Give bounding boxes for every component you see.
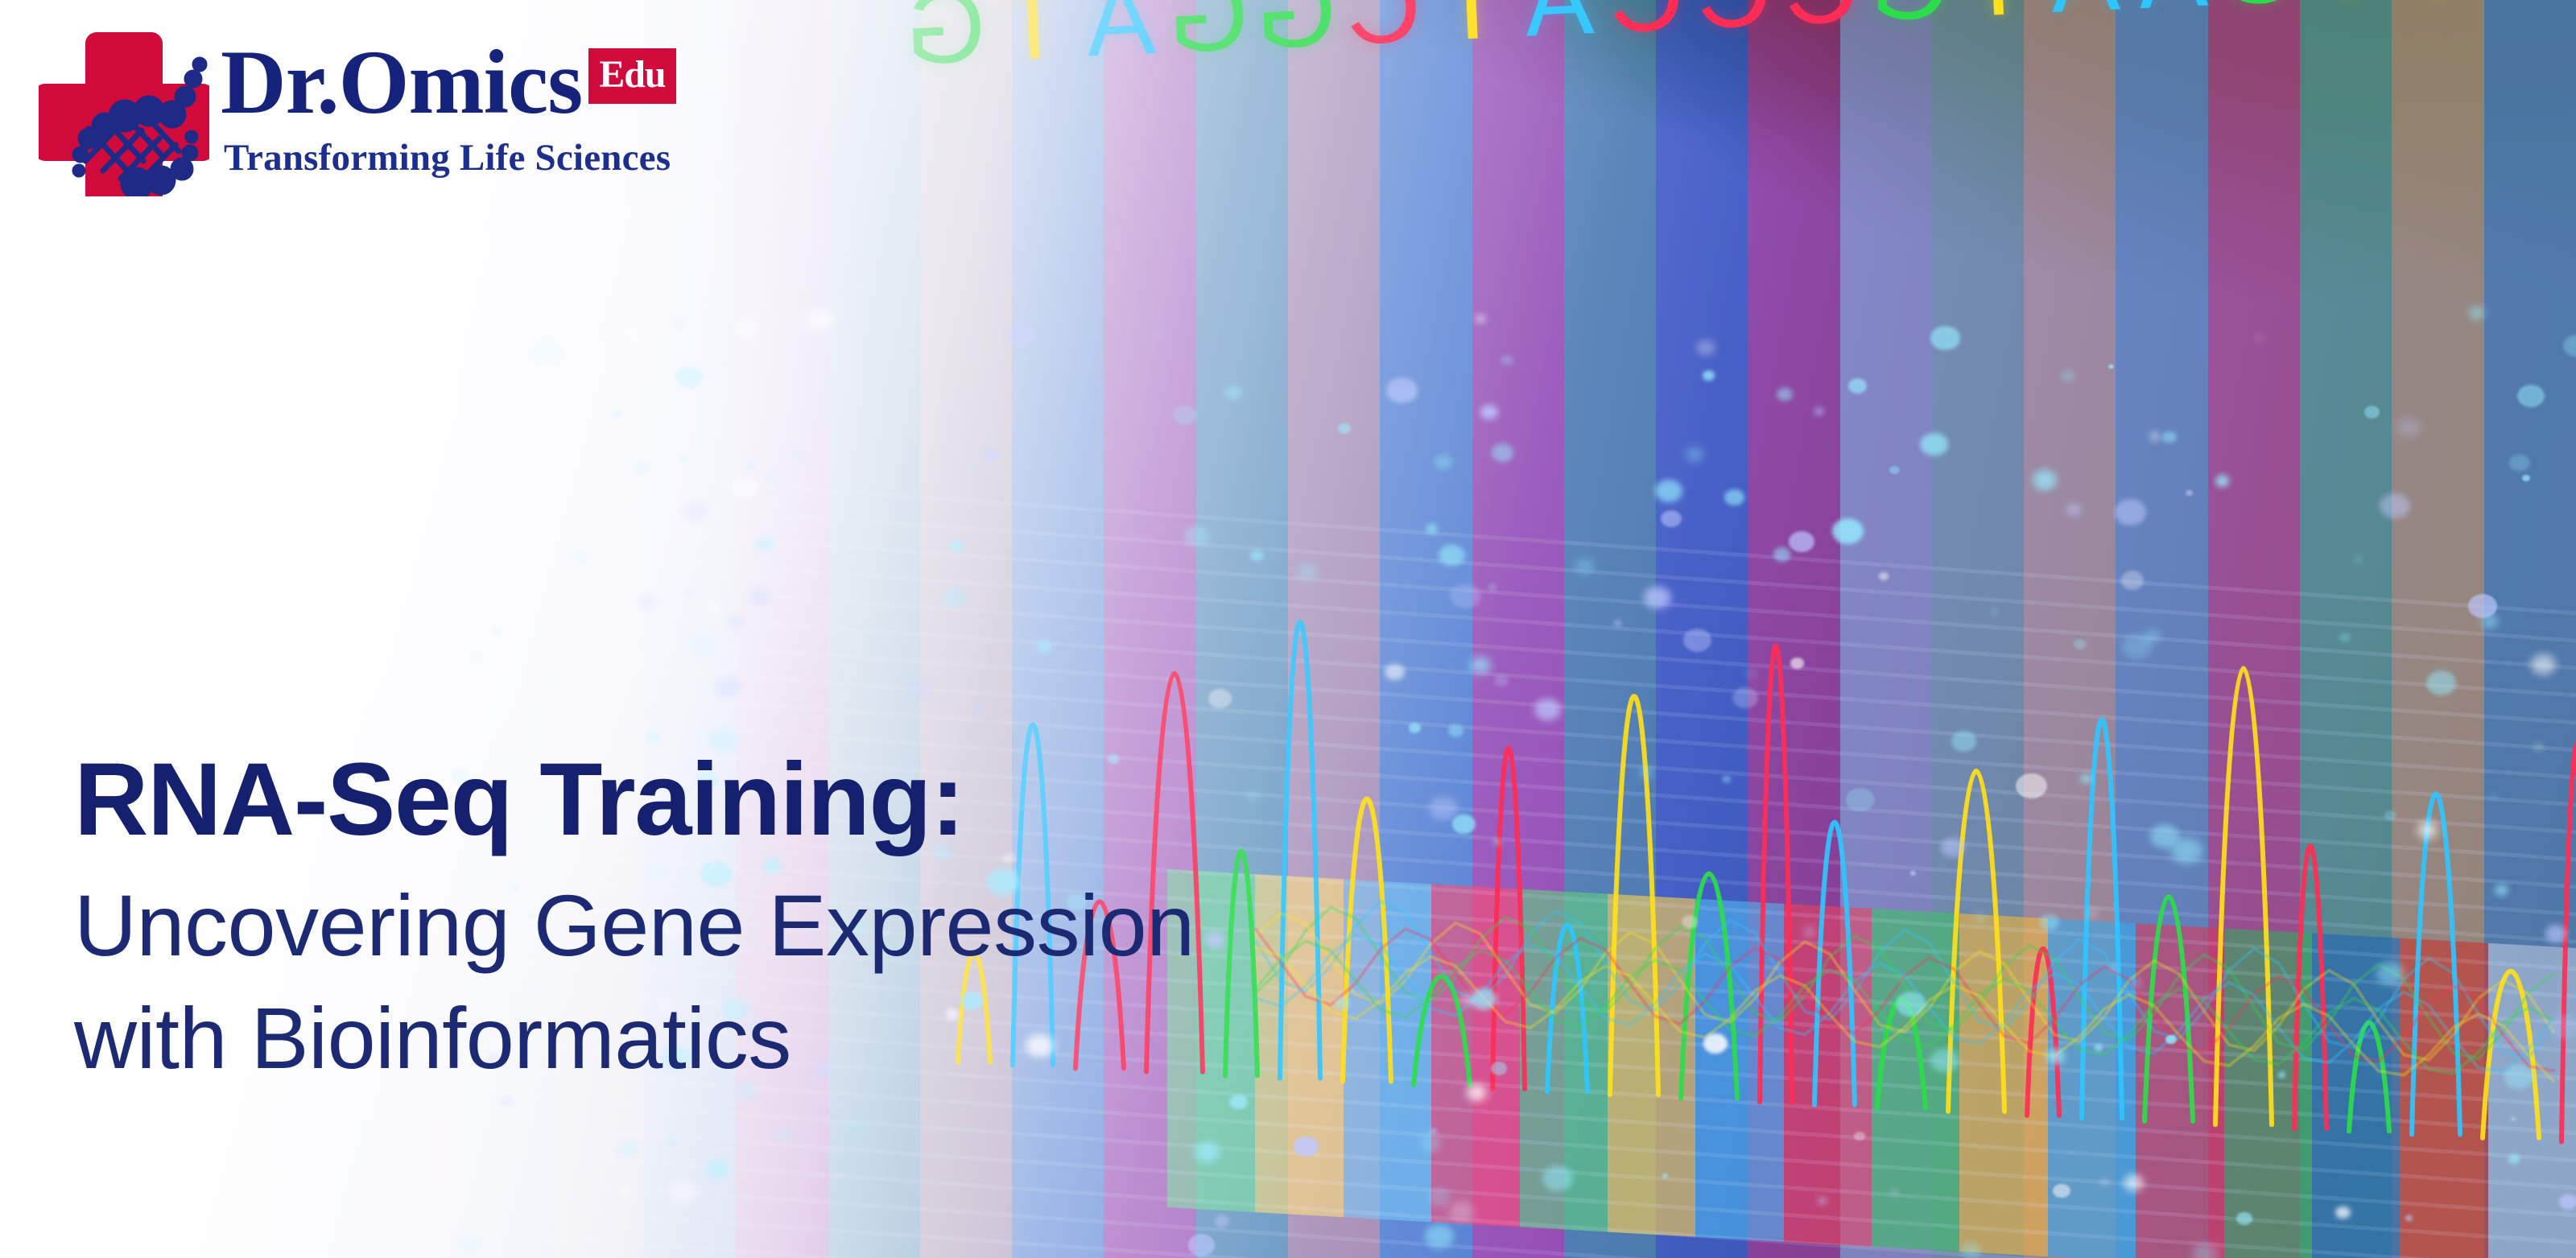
medical-cross-dna-icon <box>39 26 209 196</box>
headline-line-1: RNA-Seq Training: <box>74 749 1195 852</box>
headline-line-2: Uncovering Gene Expression <box>74 869 1195 982</box>
brand-name-main: Omics <box>339 39 583 128</box>
brand-name-prefix: Dr. <box>221 39 339 128</box>
sequence-base-C: C <box>1776 0 1868 44</box>
sequence-base-A: A <box>1075 0 1167 76</box>
sequence-base-T: T <box>2389 0 2482 16</box>
brand-text-block: Dr.Omics Edu Transforming Life Sciences <box>221 24 676 179</box>
banner-root: GTAGGCTACCCGTAAGTTACCGCGAATG <box>0 0 2576 1258</box>
sequence-base-A: A <box>2126 0 2219 28</box>
sequence-base-G: G <box>2214 0 2306 24</box>
brand-logo[interactable]: Dr.Omics Edu Transforming Life Sciences <box>39 24 676 196</box>
headline-line-3: with Bioinformatics <box>74 982 1195 1095</box>
brand-wordmark: Dr.Omics Edu <box>221 39 676 128</box>
sequence-base-C: C <box>1600 0 1693 52</box>
brand-tagline: Transforming Life Sciences <box>224 136 676 179</box>
sequence-base-G: G <box>1162 0 1255 72</box>
sequence-base-T: T <box>987 0 1080 80</box>
sequence-base-C: C <box>1337 0 1430 64</box>
sequence-base-A: A <box>2038 0 2131 32</box>
sequence-base-G: G <box>1864 0 1956 40</box>
headline-block: RNA-Seq Training: Uncovering Gene Expres… <box>74 749 1195 1095</box>
sequence-base-C: C <box>1688 0 1781 48</box>
sequence-base-A: A <box>1513 0 1605 56</box>
sequence-base-T: T <box>1425 0 1517 60</box>
sequence-base-A: A <box>2477 0 2570 12</box>
sequence-base-G: G <box>899 0 992 84</box>
sequence-base-G: G <box>1250 0 1343 68</box>
edu-badge: Edu <box>588 48 675 104</box>
sequence-base-T: T <box>1951 0 2044 36</box>
sequence-base-T: T <box>2301 0 2394 20</box>
